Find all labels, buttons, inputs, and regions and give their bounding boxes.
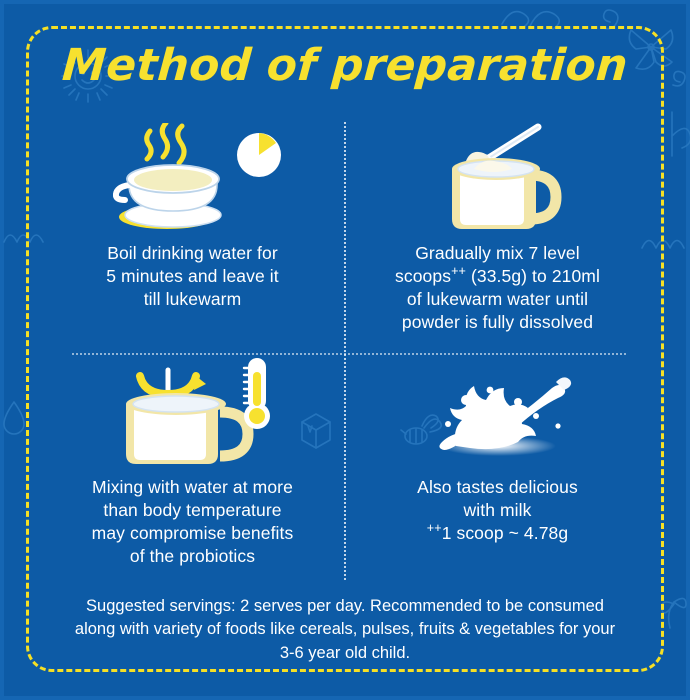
- thermometer-icon: [244, 358, 270, 429]
- caption-line: than body temperature: [92, 499, 294, 522]
- caption-line: with milk: [417, 499, 578, 522]
- caption-line: Boil drinking water for: [106, 242, 278, 265]
- step-4-caption: Also tastes delicious with milk ++1 scoo…: [417, 476, 578, 545]
- method-of-preparation-poster: Method of preparation: [0, 0, 690, 700]
- caption-line: of the probiotics: [92, 545, 294, 568]
- caption-line: of lukewarm water until: [395, 288, 600, 311]
- steps-grid: Boil drinking water for 5 minutes and le…: [40, 118, 650, 586]
- letter-doodle-icon: [666, 110, 690, 162]
- mug-with-stirring-spoon-icon: [108, 354, 278, 466]
- step-1-caption: Boil drinking water for 5 minutes and le…: [106, 242, 278, 311]
- caption-line-scoops: scoops++ (33.5g) to 210ml: [395, 265, 600, 288]
- footer-note: Suggested servings: 2 serves per day. Re…: [48, 595, 642, 665]
- page-title: Method of preparation: [0, 44, 690, 88]
- milk-splash-icon: [408, 360, 588, 460]
- five-minute-timer-icon: [236, 132, 282, 178]
- caption-line: 5 minutes and leave it: [106, 265, 278, 288]
- droplet-doodle-icon: [0, 396, 34, 440]
- step-2-artwork: [359, 118, 636, 236]
- caption-line-scoop-weight: ++1 scoop ~ 4.78g: [417, 522, 578, 545]
- caption-line: till lukewarm: [106, 288, 278, 311]
- step-1-artwork: [54, 118, 331, 236]
- step-4-artwork: [359, 354, 636, 466]
- step-3-caption: Mixing with water at more than body temp…: [92, 476, 294, 568]
- caption-line: Mixing with water at more: [92, 476, 294, 499]
- step-mix-scoops: Gradually mix 7 level scoops++ (33.5g) t…: [345, 118, 650, 354]
- spiral-doodle-icon: [590, 2, 630, 36]
- caption-line: Also tastes delicious: [417, 476, 578, 499]
- caption-line: powder is fully dissolved: [395, 311, 600, 334]
- footer-line: along with variety of foods like cereals…: [48, 618, 642, 641]
- caption-line: Gradually mix 7 level: [395, 242, 600, 265]
- step-tastes-with-milk: Also tastes delicious with milk ++1 scoo…: [345, 354, 650, 586]
- step-temperature-warning: Mixing with water at more than body temp…: [40, 354, 345, 586]
- caption-line: may compromise benefits: [92, 522, 294, 545]
- swirl-doodle-icon: [500, 0, 570, 34]
- mug-with-scoop-icon: [418, 121, 578, 233]
- step-3-artwork: [54, 354, 331, 466]
- sprout-doodle-icon: [648, 588, 688, 632]
- step-boil-water: Boil drinking water for 5 minutes and le…: [40, 118, 345, 354]
- step-2-caption: Gradually mix 7 level scoops++ (33.5g) t…: [395, 242, 600, 334]
- footer-line: Suggested servings: 2 serves per day. Re…: [48, 595, 642, 618]
- footer-line: 3-6 year old child.: [48, 642, 642, 665]
